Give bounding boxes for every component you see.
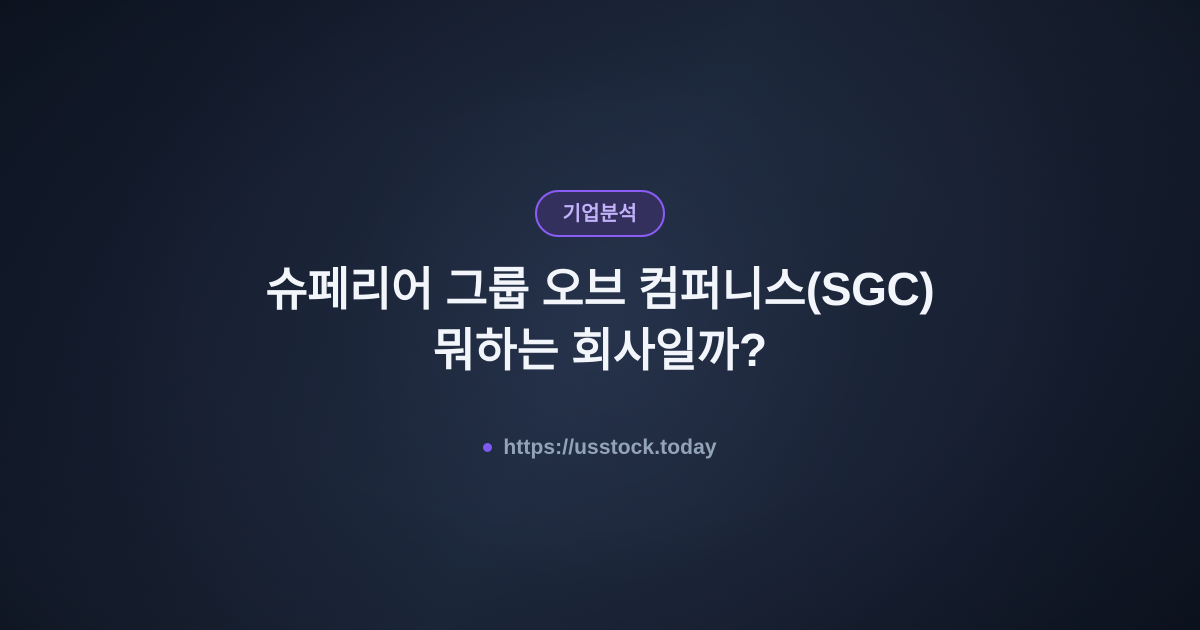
source-url-row: https://usstock.today: [483, 437, 716, 458]
source-url-label: https://usstock.today: [503, 437, 716, 458]
category-badge: 기업분석: [535, 190, 665, 237]
page-title: 슈페리어 그룹 오브 컴퍼니스(SGC) 뭐하는 회사일까?: [266, 259, 935, 380]
page-title-line-2: 뭐하는 회사일까?: [266, 320, 935, 381]
card-content: 기업분석 슈페리어 그룹 오브 컴퍼니스(SGC) 뭐하는 회사일까? http…: [0, 190, 1200, 458]
page-title-line-1: 슈페리어 그룹 오브 컴퍼니스(SGC): [266, 259, 935, 320]
og-share-card: 기업분석 슈페리어 그룹 오브 컴퍼니스(SGC) 뭐하는 회사일까? http…: [0, 0, 1200, 630]
bullet-dot-icon: [483, 443, 492, 452]
category-badge-label: 기업분석: [563, 204, 637, 224]
